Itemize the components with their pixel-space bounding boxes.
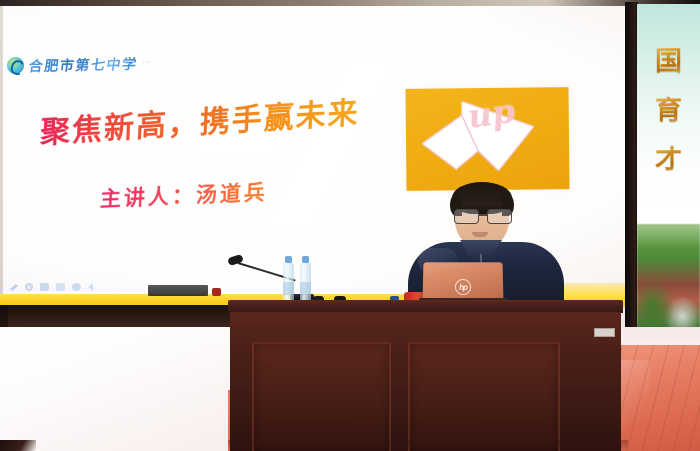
more-options-icon[interactable] bbox=[72, 283, 81, 291]
podium-label-tag bbox=[594, 328, 615, 337]
banner-char-2: 育 bbox=[655, 97, 682, 124]
floor-corner-shadow bbox=[0, 440, 36, 451]
presenter-mouth bbox=[472, 232, 488, 237]
gooseneck-microphone bbox=[228, 255, 310, 305]
screen-left-edge bbox=[0, 6, 3, 298]
podium-panel bbox=[408, 342, 560, 451]
notes-icon[interactable] bbox=[56, 283, 65, 291]
slide-logo-block: up bbox=[405, 87, 569, 191]
presenter-glasses-icon bbox=[453, 209, 512, 222]
laptop-lid: hp bbox=[423, 262, 504, 300]
banner-characters: 国 育 才 bbox=[637, 48, 700, 173]
banner-char-1: 国 bbox=[655, 48, 682, 75]
desk-red-item bbox=[212, 288, 221, 296]
laser-pointer-icon[interactable] bbox=[25, 283, 33, 291]
wooden-podium bbox=[228, 300, 623, 451]
previous-slide-icon[interactable] bbox=[88, 283, 93, 291]
podium-front bbox=[230, 312, 621, 451]
slide-grid-icon[interactable] bbox=[40, 283, 49, 291]
powerpoint-presenter-toolbar[interactable] bbox=[10, 283, 93, 291]
wall-below-screen bbox=[0, 305, 230, 327]
school-logo-dots: ··· bbox=[143, 59, 150, 66]
banner-char-3: 才 bbox=[655, 146, 682, 173]
podium-panel bbox=[252, 342, 391, 451]
glasses-lens-left bbox=[454, 209, 479, 224]
lecture-hall-scene: 合肥市第七中学 ··· 聚焦新高，携手赢未来 主讲人：汤道兵 up 国 育 才 bbox=[0, 0, 700, 451]
glasses-lens-right bbox=[487, 209, 512, 224]
school-logo: 合肥市第七中学 ··· bbox=[7, 55, 150, 75]
side-banner: 国 育 才 bbox=[637, 4, 700, 356]
podium-floor-shadow bbox=[228, 440, 628, 451]
pen-icon[interactable] bbox=[10, 283, 18, 290]
slide-logo-script: up bbox=[465, 91, 517, 136]
school-name-text: 合肥市第七中学 bbox=[27, 54, 139, 76]
desk-dark-plate bbox=[148, 285, 208, 296]
school-emblem-icon bbox=[7, 57, 24, 74]
hp-logo-icon: hp bbox=[455, 279, 471, 295]
